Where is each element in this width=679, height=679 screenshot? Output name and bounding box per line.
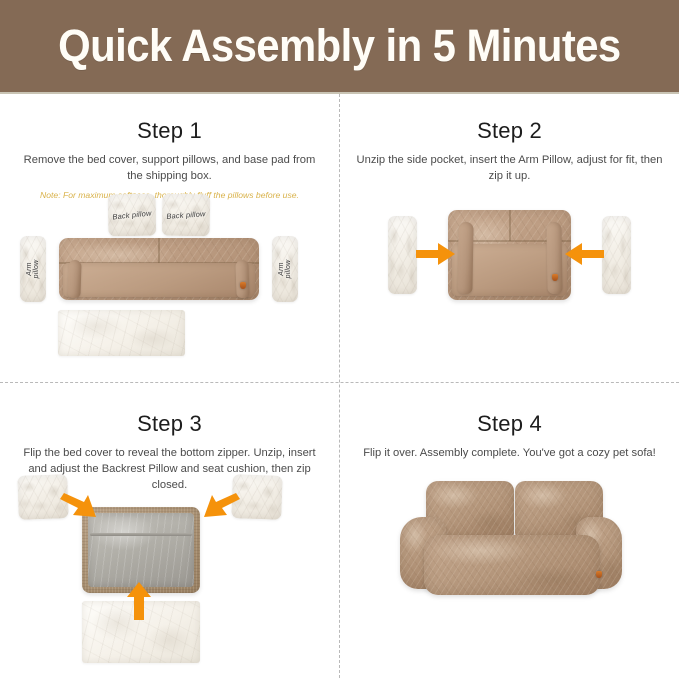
bottom-zipper (90, 533, 192, 536)
insert-arrow-right-icon (564, 242, 604, 266)
step-1-description: Remove the bed cover, support pillows, a… (0, 153, 339, 185)
arm-pillow-bag-left: Arm pillow (20, 236, 46, 302)
insert-arrow-topright-icon (198, 491, 238, 523)
step-4-panel: Step 4 Flip it over. Assembly complete. … (340, 387, 679, 679)
back-pillow-label-left: Back pillow (108, 208, 157, 222)
insert-arrow-left-icon (416, 242, 456, 266)
step-2-illustration (340, 206, 679, 326)
insert-arrow-topleft-icon (62, 491, 102, 523)
bed-cover-sleeve-right-step2 (546, 222, 562, 294)
steps-grid: Step 1 Remove the bed cover, support pil… (0, 94, 679, 678)
assembled-pet-sofa (398, 479, 622, 601)
step-4-title: Step 4 (340, 411, 679, 437)
backrest-pillow-bag-right (231, 474, 283, 520)
step-1-illustration: Back pillow Back pillow Arm pillow Arm p… (0, 190, 339, 380)
bed-cover-sleeve-left (67, 260, 81, 298)
back-pillow-bag-left: Back pillow (108, 194, 157, 237)
arm-pillow-label-right: Arm pillow (278, 256, 292, 282)
back-pillow-bag-right: Back pillow (162, 194, 211, 237)
step-1-panel: Step 1 Remove the bed cover, support pil… (0, 94, 339, 386)
step-2-title: Step 2 (340, 118, 679, 144)
zipper-pull-step2 (552, 274, 558, 281)
insert-arrow-bottom-icon (126, 581, 152, 621)
arm-pillow-bag-right-step2 (602, 216, 631, 294)
sofa-seat-cushion (424, 535, 600, 595)
bed-cover-sleeve-right (235, 260, 249, 298)
step-2-description: Unzip the side pocket, insert the Arm Pi… (340, 153, 679, 185)
step-4-illustration (340, 479, 679, 614)
step-1-title: Step 1 (0, 118, 339, 144)
base-pad (58, 310, 185, 356)
header-banner: Quick Assembly in 5 Minutes (0, 0, 679, 92)
arm-pillow-label-left: Arm pillow (26, 256, 40, 282)
step-3-panel: Step 3 Flip the bed cover to reveal the … (0, 387, 339, 679)
step-3-illustration (0, 473, 339, 673)
sofa-zipper-pull (596, 571, 602, 578)
page-title: Quick Assembly in 5 Minutes (58, 20, 620, 72)
step-2-panel: Step 2 Unzip the side pocket, insert the… (340, 94, 679, 386)
bed-cover-sleeve-left-step2 (457, 222, 473, 294)
back-pillow-label-right: Back pillow (162, 209, 211, 221)
zipper-pull (240, 282, 246, 289)
step-4-description: Flip it over. Assembly complete. You've … (340, 446, 679, 462)
inner-liner (88, 513, 194, 587)
bed-cover-front-flap (63, 263, 255, 297)
step-3-title: Step 3 (0, 411, 339, 437)
arm-pillow-bag-left-step2 (388, 216, 417, 294)
arm-pillow-bag-right: Arm pillow (272, 236, 298, 302)
